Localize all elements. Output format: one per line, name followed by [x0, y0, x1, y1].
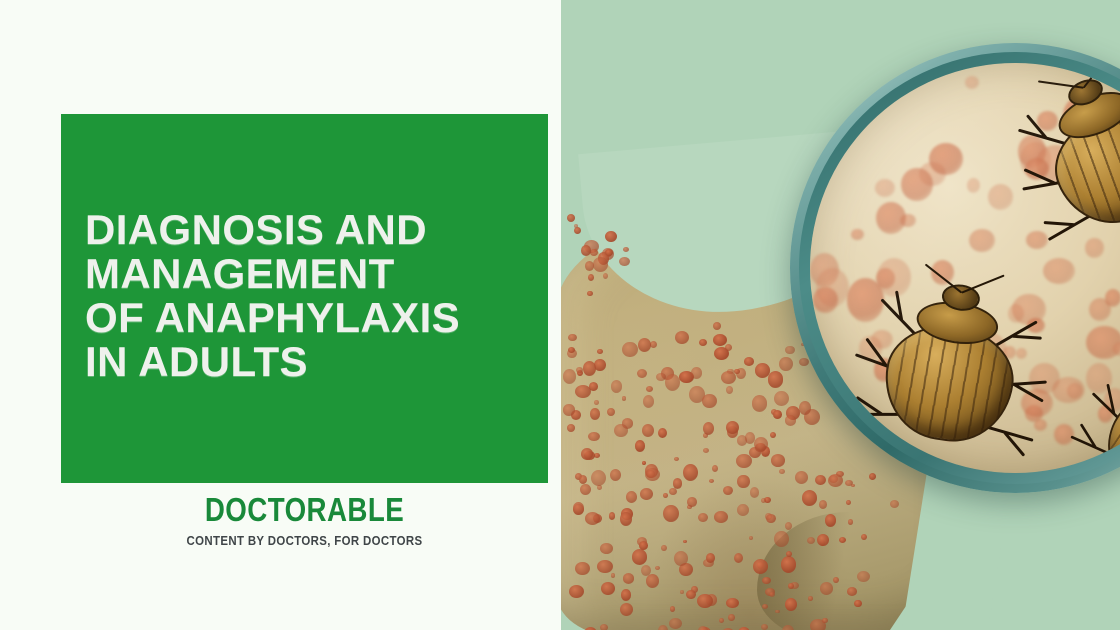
brand-logo[interactable]: DOCTORABLE CONTENT BY DOCTORS, FOR DOCTO…: [61, 492, 548, 548]
colony-spot: [875, 179, 896, 197]
colony-spot: [1026, 231, 1048, 248]
rash-spot: [574, 227, 581, 234]
colony-spot: [969, 229, 994, 253]
colony-spot: [876, 202, 906, 234]
rash-spot: [567, 214, 575, 222]
bed-bug: [877, 273, 1026, 449]
colony-spot: [1085, 238, 1103, 258]
page-title: DIAGNOSIS AND MANAGEMENT OF ANAPHYLAXIS …: [85, 208, 535, 384]
colony-spot: [967, 178, 980, 193]
colony-spot: [901, 168, 932, 201]
colony-spot: [1043, 258, 1075, 284]
colony-spot: [929, 143, 963, 175]
colony-spot: [1113, 342, 1120, 355]
promo-banner: DIAGNOSIS AND MANAGEMENT OF ANAPHYLAXIS …: [0, 0, 1120, 630]
colony-spot: [988, 184, 1013, 210]
bed-bug-antenna: [961, 274, 1004, 293]
colony-spot: [965, 76, 979, 90]
rash-spot: [574, 224, 578, 228]
photo-panel: [561, 0, 1120, 630]
colony-spot: [851, 229, 864, 241]
logo-tagline: CONTENT BY DOCTORS, FOR DOCTORS: [90, 533, 519, 548]
colony-spot: [816, 268, 849, 307]
colony-spot: [1105, 289, 1120, 307]
title-card: DIAGNOSIS AND MANAGEMENT OF ANAPHYLAXIS …: [61, 114, 548, 483]
petri-dish-magnifier: [790, 43, 1120, 493]
logo-wordmark: DOCTORABLE: [100, 492, 509, 528]
